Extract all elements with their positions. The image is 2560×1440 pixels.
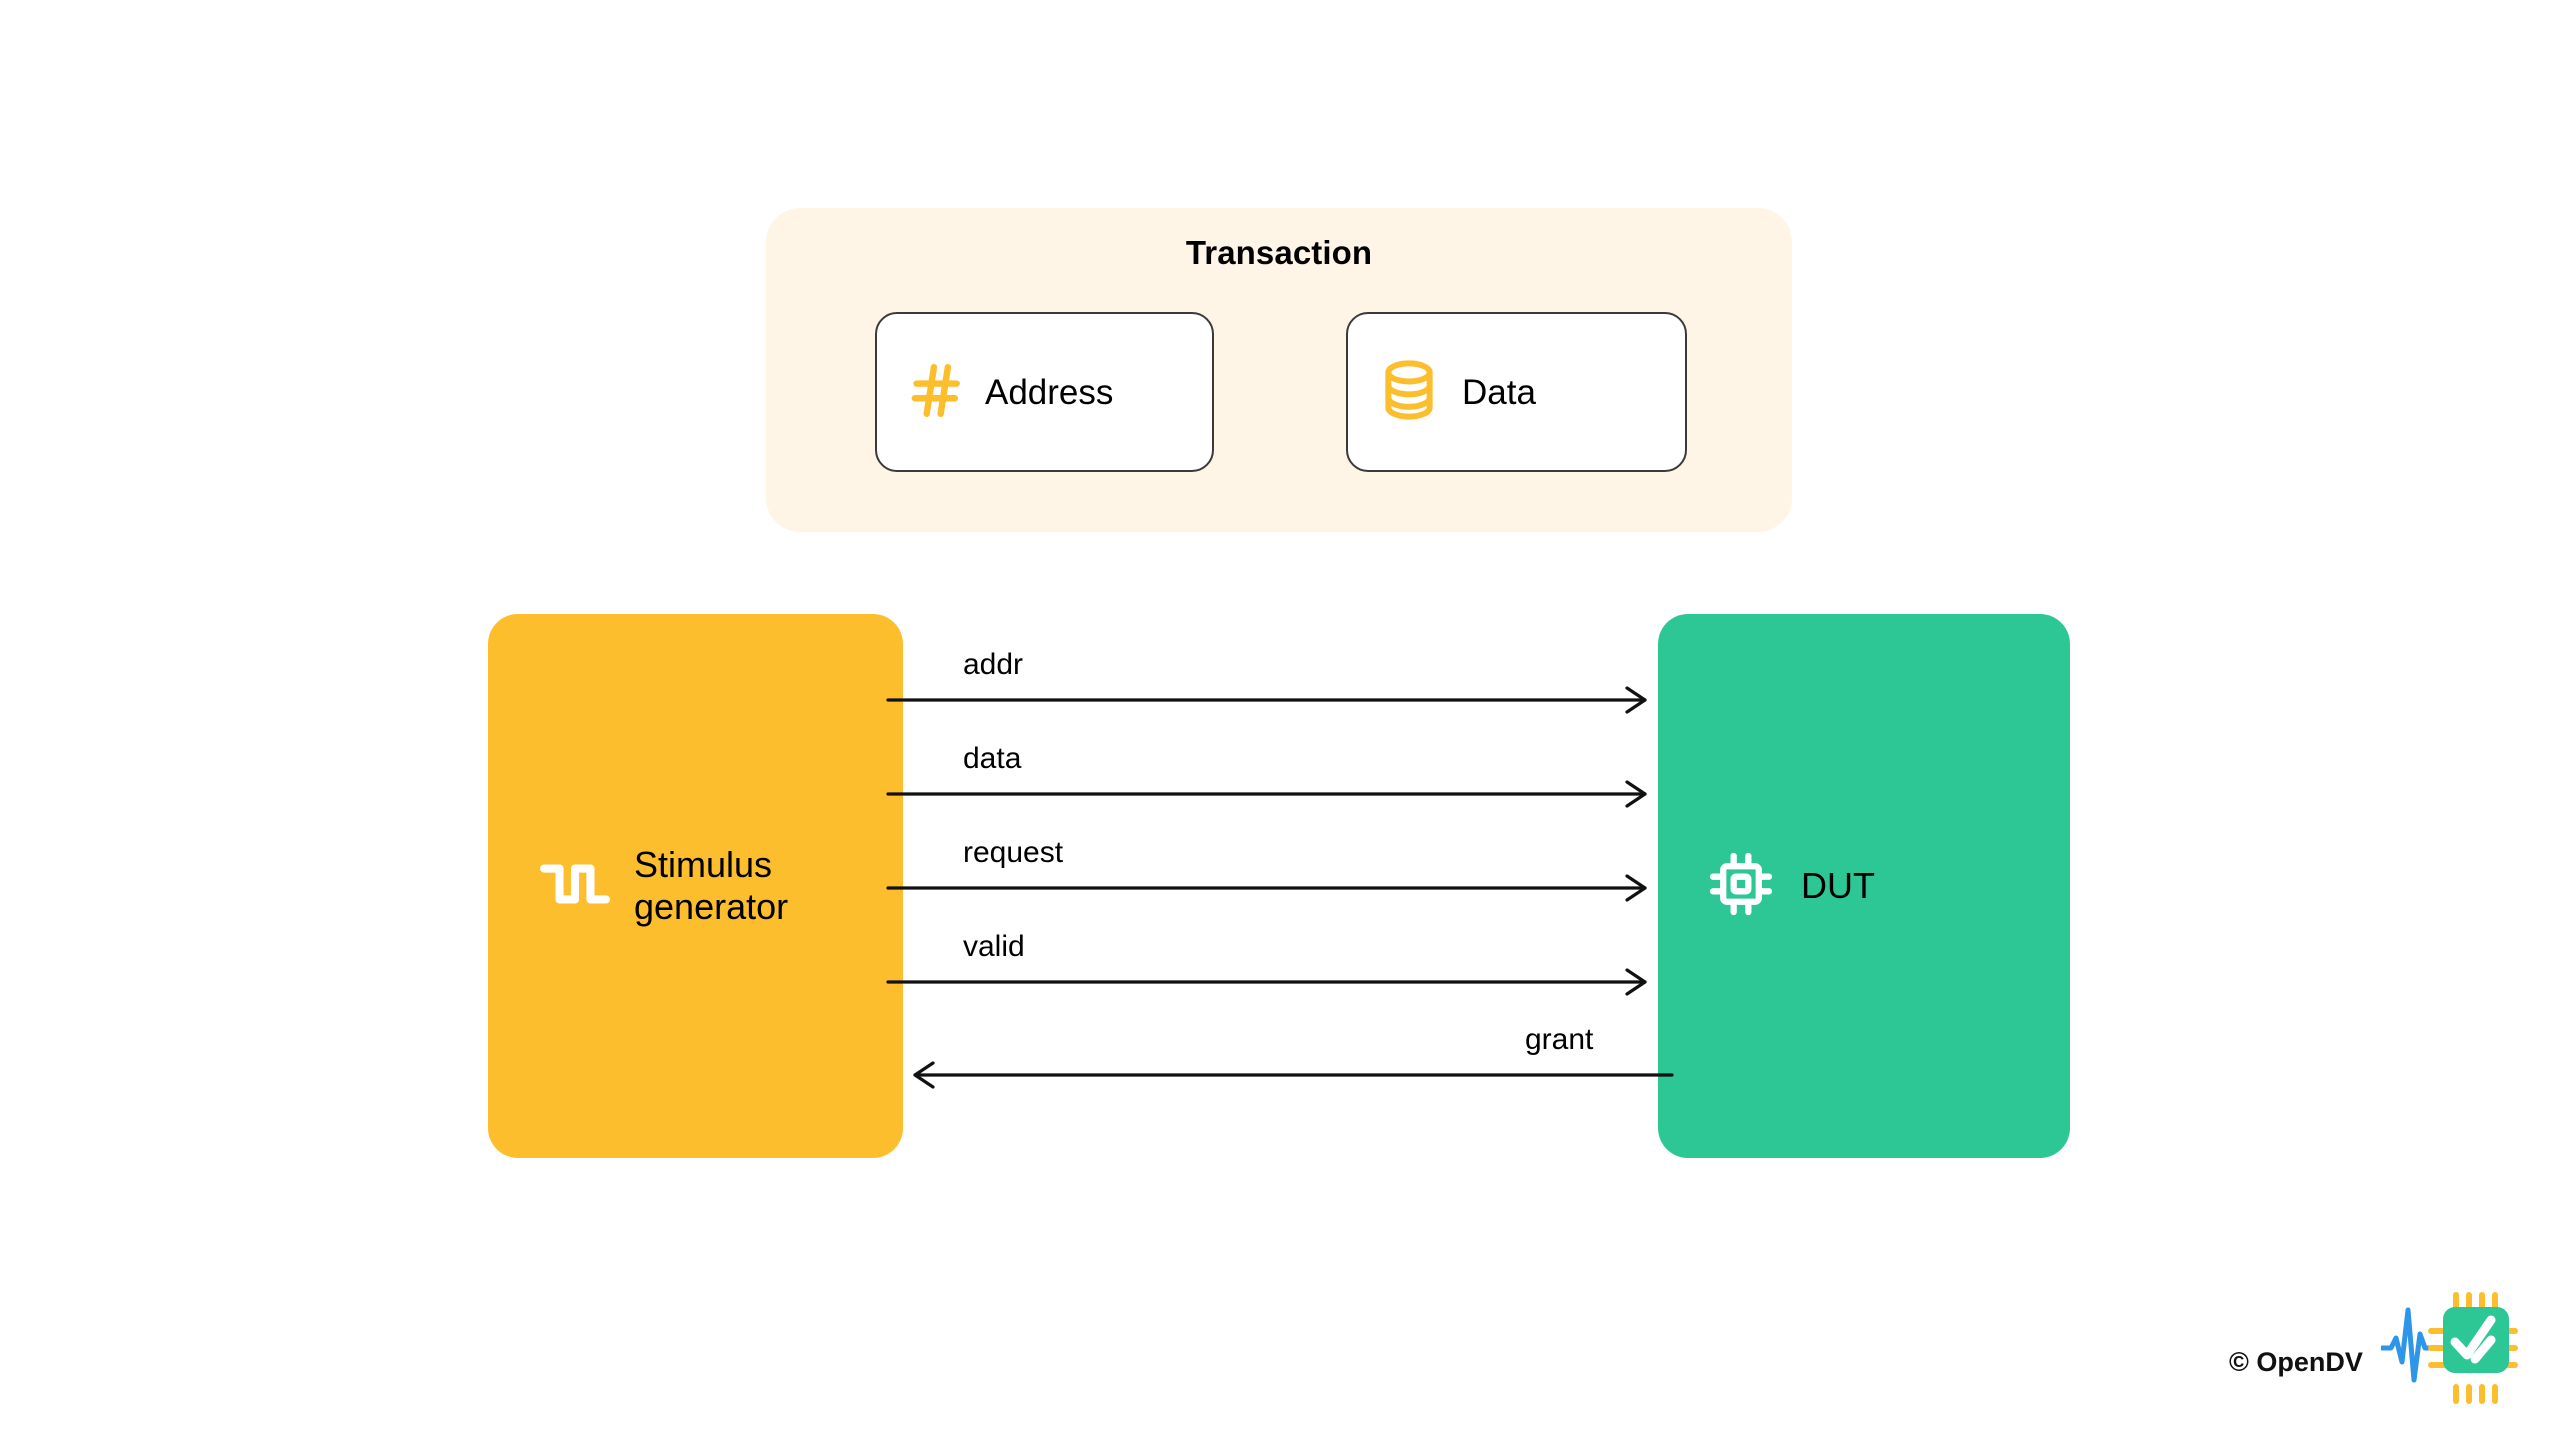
- hash-icon: [905, 359, 967, 426]
- signal-label-request: request: [963, 838, 1063, 868]
- diagram-canvas: Transaction Address: [0, 0, 2560, 1440]
- waveform-icon: [2382, 1310, 2436, 1380]
- signal-line-request: [888, 876, 1645, 900]
- signal-label-valid: valid: [963, 932, 1025, 962]
- signal-label-addr: addr: [963, 650, 1023, 680]
- transaction-panel: Transaction Address: [766, 208, 1792, 532]
- square-wave-icon: [538, 855, 612, 918]
- transaction-title: Transaction: [766, 234, 1792, 272]
- block-stimulus-line-1: Stimulus: [634, 844, 772, 885]
- block-stimulus-generator-label: Stimulus generator: [634, 844, 788, 928]
- block-dut[interactable]: DUT: [1658, 614, 2070, 1158]
- database-icon: [1380, 359, 1438, 426]
- copyright-text: © OpenDV: [2229, 1347, 2363, 1378]
- chip-icon: [1707, 850, 1775, 923]
- block-stimulus-line-2: generator: [634, 886, 788, 927]
- signal-label-grant: grant: [1525, 1025, 1593, 1055]
- signal-line-grant: [915, 1063, 1672, 1087]
- transaction-field-address-label: Address: [985, 375, 1113, 410]
- signal-label-data: data: [963, 744, 1021, 774]
- block-dut-label: DUT: [1801, 865, 1875, 907]
- signal-line-data: [888, 782, 1645, 806]
- transaction-field-data-label: Data: [1462, 375, 1536, 410]
- block-stimulus-generator[interactable]: Stimulus generator: [488, 614, 903, 1158]
- transaction-field-address[interactable]: Address: [875, 312, 1214, 472]
- signal-line-valid: [888, 970, 1645, 994]
- transaction-field-data[interactable]: Data: [1346, 312, 1687, 472]
- signal-line-addr: [888, 688, 1645, 712]
- opendv-logo: [2381, 1290, 2521, 1411]
